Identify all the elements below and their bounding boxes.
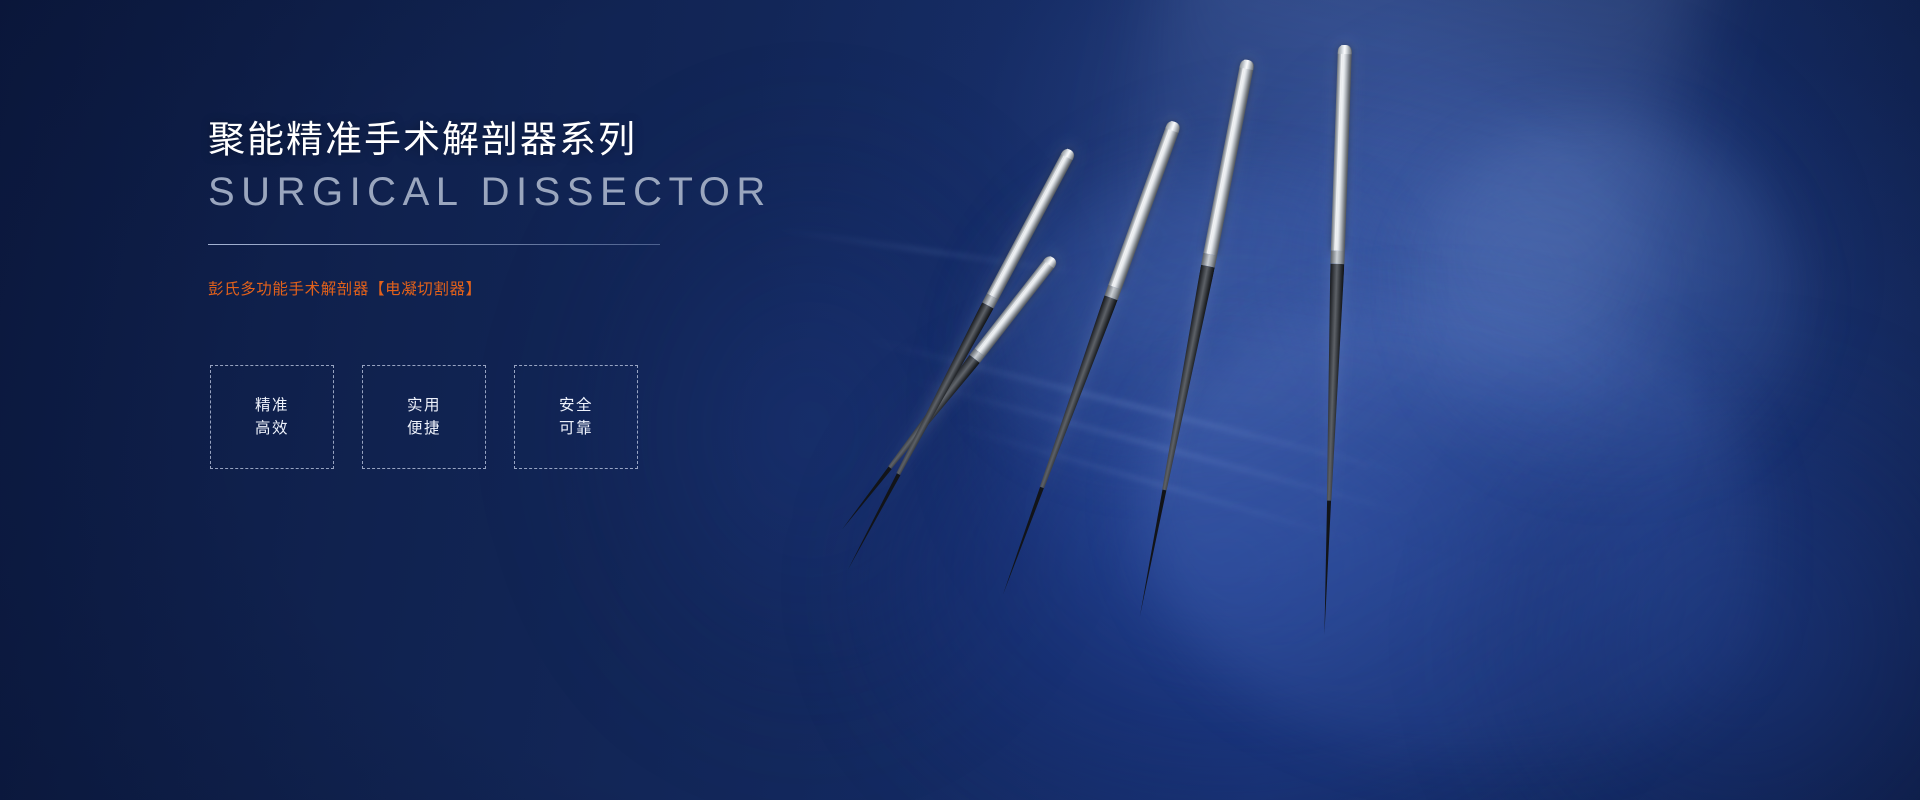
feature-box[interactable]: 实用便捷 bbox=[362, 365, 486, 469]
instrument-shaft bbox=[1203, 59, 1255, 256]
page-title: 聚能精准手术解剖器系列 bbox=[208, 118, 828, 162]
instrument-shaft bbox=[1331, 45, 1352, 251]
hero-copy: 聚能精准手术解剖器系列 SURGICAL DISSECTOR 彭氏多功能手术解剖… bbox=[208, 118, 828, 299]
feature-line-1: 安全 bbox=[559, 398, 593, 414]
instrument-handle bbox=[892, 302, 993, 477]
instrument-handle bbox=[1158, 265, 1215, 491]
instrument-handle bbox=[1035, 295, 1117, 490]
instrument-tip bbox=[1138, 490, 1167, 617]
feature-line-2: 便捷 bbox=[407, 421, 441, 437]
feature-line-2: 高效 bbox=[255, 421, 289, 437]
feature-line-1: 实用 bbox=[407, 398, 441, 414]
feature-line-2: 可靠 bbox=[559, 421, 593, 437]
feature-box-list: 精准高效实用便捷安全可靠 bbox=[210, 365, 638, 469]
feature-line-1: 精准 bbox=[255, 398, 289, 414]
divider bbox=[208, 244, 660, 245]
product-tagline: 彭氏多功能手术解剖器【电凝切割器】 bbox=[208, 277, 828, 299]
surgical-dissector-5 bbox=[1320, 45, 1352, 560]
feature-box[interactable]: 精准高效 bbox=[210, 365, 334, 469]
hero-banner: 聚能精准手术解剖器系列 SURGICAL DISSECTOR 彭氏多功能手术解剖… bbox=[0, 0, 1920, 800]
feature-box[interactable]: 安全可靠 bbox=[514, 365, 638, 469]
surgical-dissector-3 bbox=[1018, 120, 1182, 538]
surgical-dissector-1 bbox=[863, 254, 1058, 498]
instrument-handle bbox=[1322, 264, 1344, 501]
instrument-shaft bbox=[1108, 120, 1181, 290]
instrument-collar bbox=[1330, 251, 1344, 264]
instrument-tip bbox=[1322, 501, 1331, 635]
page-subtitle: SURGICAL DISSECTOR bbox=[208, 170, 828, 214]
instrument-tip bbox=[1001, 487, 1044, 595]
